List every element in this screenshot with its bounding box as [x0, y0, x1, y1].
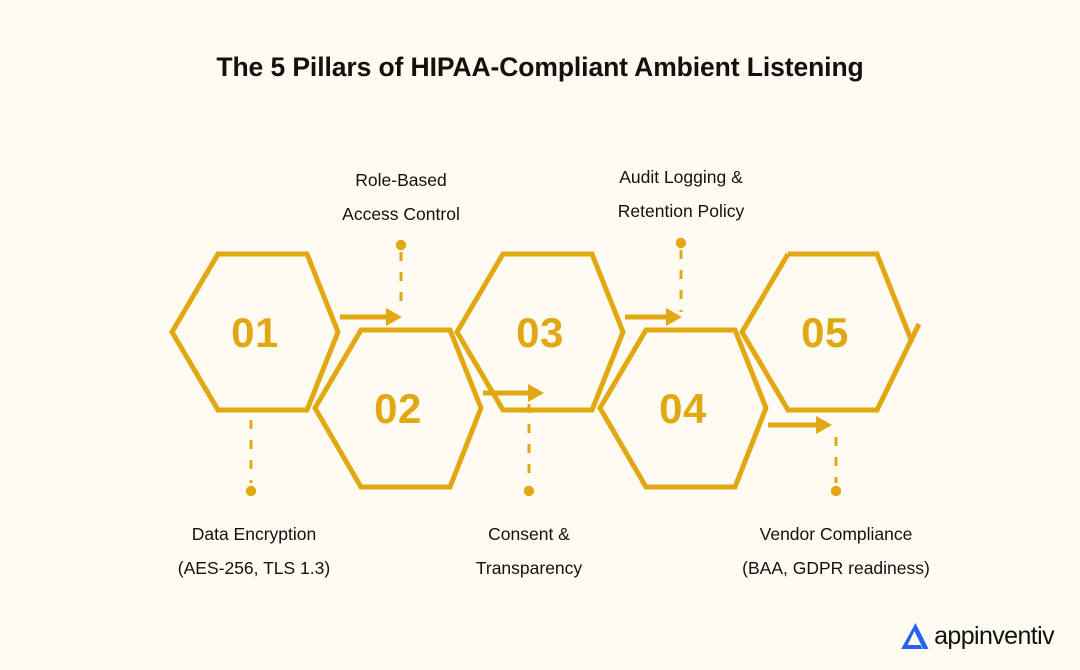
hexagon-05[interactable]: 05: [742, 254, 919, 410]
connector-pillar-01: [246, 420, 256, 496]
arrow-01-to-02: [340, 308, 402, 326]
pillar-03-line2: Transparency: [379, 552, 679, 586]
pillar-04-line1: Audit Logging &: [619, 167, 743, 187]
pillar-label-05: Vendor Compliance (BAA, GDPR readiness): [656, 518, 1016, 585]
infographic-canvas: The 5 Pillars of HIPAA-Compliant Ambient…: [0, 0, 1080, 670]
hexagon-03-number: 03: [516, 309, 564, 356]
pillar-02-line1: Role-Based: [355, 170, 446, 190]
hexagon-01[interactable]: 01: [172, 254, 338, 410]
appinventiv-logo[interactable]: appinventiv: [898, 620, 1054, 652]
appinventiv-a-mark-icon: [898, 620, 932, 652]
hexagon-05-number: 05: [801, 309, 849, 356]
connector-pillar-03: [524, 404, 534, 496]
hexagon-03[interactable]: 03: [457, 254, 623, 410]
connector-pillar-02: [396, 240, 406, 312]
pillar-01-line1: Data Encryption: [192, 524, 317, 544]
pillar-02-line2: Access Control: [251, 198, 551, 232]
hexagon-01-number: 01: [231, 309, 279, 356]
hexagon-02-number: 02: [374, 385, 422, 432]
pillar-04-line2: Retention Policy: [531, 195, 831, 229]
arrow-04-to-05: [768, 416, 832, 434]
hexagon-04-number: 04: [659, 385, 707, 432]
pillar-01-line2: (AES-256, TLS 1.3): [84, 552, 424, 586]
pillar-label-01: Data Encryption (AES-256, TLS 1.3): [84, 518, 424, 585]
pillar-03-line1: Consent &: [488, 524, 570, 544]
connector-pillar-04: [676, 238, 686, 312]
pillar-05-line2: (BAA, GDPR readiness): [656, 552, 1016, 586]
pillar-05-line1: Vendor Compliance: [760, 524, 913, 544]
pillar-label-03: Consent & Transparency: [379, 518, 679, 585]
connector-pillar-05: [831, 437, 841, 496]
hexagon-04[interactable]: 04: [600, 330, 766, 487]
pillar-label-04: Audit Logging & Retention Policy: [531, 161, 831, 228]
hexagon-02[interactable]: 02: [315, 330, 481, 487]
pillar-label-02: Role-Based Access Control: [251, 164, 551, 231]
arrow-03-to-04: [625, 308, 682, 326]
appinventiv-wordmark: appinventiv: [934, 622, 1054, 651]
